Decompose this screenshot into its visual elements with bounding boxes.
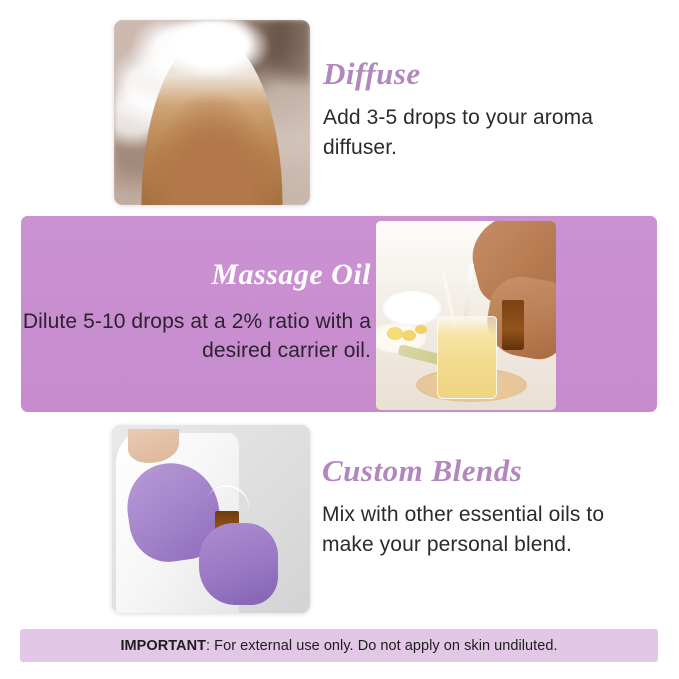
blends-gloved-hand-lower xyxy=(199,523,278,606)
diffuser-top-highlight xyxy=(114,20,310,205)
important-separator: : xyxy=(206,638,214,654)
section-heading-massage-oil: Massage Oil xyxy=(0,258,371,292)
important-notice-banner: IMPORTANT: For external use only. Do not… xyxy=(20,629,658,662)
section-heading-custom-blends: Custom Blends xyxy=(322,453,522,489)
section-body-diffuse: Add 3-5 drops to your aroma diffuser. xyxy=(323,103,613,163)
custom-blends-gloves-photo xyxy=(112,425,310,613)
important-label: IMPORTANT xyxy=(120,638,206,654)
section-heading-diffuse: Diffuse xyxy=(323,56,421,92)
infographic-canvas: Diffuse Add 3-5 drops to your aroma diff… xyxy=(0,0,679,679)
massage-amber-bottle xyxy=(502,300,524,349)
section-body-massage-oil: Dilute 5-10 drops at a 2% ratio with a d… xyxy=(0,307,371,365)
aroma-diffuser-photo xyxy=(114,20,310,205)
important-notice-text: IMPORTANT: For external use only. Do not… xyxy=(120,638,557,654)
important-message: For external use only. Do not apply on s… xyxy=(214,638,557,654)
massage-oil-jar xyxy=(437,316,497,399)
massage-plate-large xyxy=(380,289,445,327)
section-body-custom-blends: Mix with other essential oils to make yo… xyxy=(322,500,622,560)
massage-lemon-slices xyxy=(387,327,403,340)
massage-oil-mixing-photo xyxy=(376,221,556,410)
